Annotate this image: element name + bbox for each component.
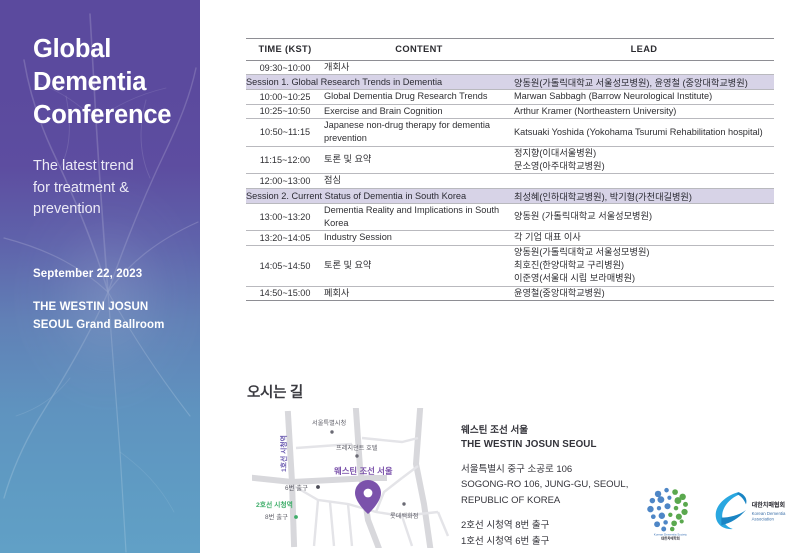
agenda-row: 09:30~10:00개회사	[246, 61, 774, 75]
page-title: Global Dementia Conference	[33, 33, 200, 132]
agenda-row: 10:00~10:25Global Dementia Drug Research…	[246, 90, 774, 104]
logo-strip: Korean Dementia Society 대한치매학회 대한치매협회 Ko…	[641, 478, 793, 544]
session-title: Session 2. Current Status of Dementia in…	[246, 188, 514, 203]
agenda-lead-line: 정지향(이대서울병원)	[514, 147, 774, 160]
event-venue: THE WESTIN JOSUN SEOUL Grand Ballroom	[33, 299, 200, 335]
map-label-city-hall: 서울특별시청	[312, 419, 346, 427]
agenda-row: 10:50~11:15Japanese non-drug therapy for…	[246, 119, 774, 147]
agenda-row-lead: 양동원(가톨릭대학교 서울성모병원)최호진(한양대학교 구리병원)이준영(서울대…	[514, 245, 774, 286]
agenda-row-content: Dementia Reality and Implications in Sou…	[324, 203, 514, 231]
agenda-row-lead: 윤영철(중앙대학교병원)	[514, 286, 774, 300]
agenda-row-time: 12:00~13:00	[246, 174, 324, 188]
agenda-row-time: 10:50~11:15	[246, 119, 324, 147]
column-header-lead: LEAD	[514, 39, 774, 61]
subway-access: 2호선 시청역 8번 출구 1호선 시청역 6번 출구	[461, 518, 661, 549]
agenda-row-time: 14:05~14:50	[246, 245, 324, 286]
agenda-row-content: 토론 및 요약	[324, 146, 514, 174]
agenda-lead-line: Katsuaki Yoshida (Yokohama Tsurumi Rehab…	[514, 126, 774, 139]
agenda-row-lead: 정지향(이대서울병원)문소영(아주대학교병원)	[514, 146, 774, 174]
agenda-lead-line: 양동원 (가톨릭대학교 서울성모병원)	[514, 210, 774, 223]
agenda-row-time: 09:30~10:00	[246, 61, 324, 75]
logo-caption-en-2: Association	[751, 516, 774, 521]
agenda-session-row: Session 1. Global Research Trends in Dem…	[246, 75, 774, 90]
agenda-row-content: 폐회사	[324, 286, 514, 300]
title-line-2: Dementia	[33, 68, 146, 96]
address-block: 웨스틴 조선 서울 THE WESTIN JOSUN SEOUL 서울특별시 중…	[461, 424, 661, 549]
venue-name-ko: 웨스틴 조선 서울	[461, 424, 661, 438]
sidebar-panel: Global Dementia Conference The latest tr…	[0, 0, 200, 553]
map-label-exit8: 8번 출구	[265, 512, 288, 521]
column-header-time: TIME (KST)	[246, 39, 324, 61]
table-header-row: TIME (KST) CONTENT LEAD	[246, 39, 774, 61]
title-line-1: Global	[33, 35, 111, 63]
agenda-row-lead	[514, 61, 774, 75]
agenda-lead-line: 문소영(아주대학교병원)	[514, 160, 774, 173]
agenda-row-content: Global Dementia Drug Research Trends	[324, 90, 514, 104]
subway-line-1: 2호선 시청역 8번 출구	[461, 518, 661, 533]
session-lead: 양동원(가톨릭대학교 서울성모병원), 윤영철 (중앙대학교병원)	[514, 75, 774, 90]
logo-caption-ko: 대한치매협회	[751, 501, 784, 509]
agenda-row-lead: Marwan Sabbagh (Barrow Neurological Inst…	[514, 90, 774, 104]
agenda-row-content: 점심	[324, 174, 514, 188]
agenda-row-time: 13:20~14:05	[246, 231, 324, 245]
agenda-row-content: Exercise and Brain Cognition	[324, 104, 514, 118]
address-line-3: REPUBLIC OF KOREA	[461, 493, 661, 508]
agenda-row: 14:50~15:00폐회사윤영철(중앙대학교병원)	[246, 286, 774, 300]
logo-caption-en-1: Korean Dementia	[751, 511, 785, 516]
agenda-row-content: Japanese non-drug therapy for dementia p…	[324, 119, 514, 147]
agenda-row-content: 개회사	[324, 61, 514, 75]
agenda-row: 11:15~12:00토론 및 요약정지향(이대서울병원)문소영(아주대학교병원…	[246, 146, 774, 174]
agenda-table-head: TIME (KST) CONTENT LEAD	[246, 39, 774, 61]
title-line-3: Conference	[33, 101, 171, 129]
agenda-row-content: 토론 및 요약	[324, 245, 514, 286]
session-title: Session 1. Global Research Trends in Dem…	[246, 75, 514, 90]
address-line-1: 서울특별시 중구 소공로 106	[461, 462, 661, 477]
agenda-row: 13:20~14:05Industry Session각 기업 대표 이사	[246, 231, 774, 245]
agenda-row: 14:05~14:50토론 및 요약양동원(가톨릭대학교 서울성모병원)최호진(…	[246, 245, 774, 286]
tagline-line-1: The latest trend	[33, 158, 134, 174]
agenda-session-row: Session 2. Current Status of Dementia in…	[246, 188, 774, 203]
map-label-lotte: 롯데백화점	[390, 512, 418, 520]
agenda-row-time: 13:00~13:20	[246, 203, 324, 231]
agenda-row: 12:00~13:00점심	[246, 174, 774, 188]
tagline: The latest trend for treatment & prevent…	[33, 156, 200, 220]
agenda-lead-line: Marwan Sabbagh (Barrow Neurological Inst…	[514, 90, 774, 103]
agenda-lead-line: 윤영철(중앙대학교병원)	[514, 287, 774, 300]
directions-heading: 오시는 길	[247, 381, 303, 402]
session-lead: 최성혜(인하대학교병원), 박기형(가천대길병원)	[514, 188, 774, 203]
agenda-row-lead: Katsuaki Yoshida (Yokohama Tsurumi Rehab…	[514, 119, 774, 147]
agenda-row-lead: 각 기업 대표 이사	[514, 231, 774, 245]
agenda-lead-line: 최호진(한양대학교 구리병원)	[514, 259, 774, 272]
agenda-row-time: 11:15~12:00	[246, 146, 324, 174]
agenda-row-lead: 양동원 (가톨릭대학교 서울성모병원)	[514, 203, 774, 231]
map-label-president-hotel: 프레지던트 호텔	[336, 444, 378, 452]
agenda-lead-line: Arthur Kramer (Northeastern University)	[514, 105, 774, 118]
location-map[interactable]: 서울특별시청 프레지던트 호텔 롯데백화점 6번 출구 8번 출구 2호선 시청…	[252, 408, 452, 548]
korean-dementia-society-logo: Korean Dementia Society 대한치매학회	[641, 480, 700, 542]
poster-page: Global Dementia Conference The latest tr…	[0, 0, 800, 553]
address-line-2: SOGONG-RO 106, JUNG-GU, SEOUL,	[461, 477, 661, 492]
venue-name-en: THE WESTIN JOSUN SEOUL	[461, 438, 661, 453]
agenda-row-time: 10:00~10:25	[246, 90, 324, 104]
agenda-lead-line: 양동원(가톨릭대학교 서울성모병원)	[514, 246, 774, 259]
agenda-lead-line: 각 기업 대표 이사	[514, 231, 774, 244]
logo-caption-ko: 대한치매학회	[661, 535, 680, 540]
tagline-line-3: prevention	[33, 201, 101, 217]
map-label-line2-station: 2호선 시청역	[256, 500, 293, 509]
postal-address: 서울특별시 중구 소공로 106 SOGONG-RO 106, JUNG-GU,…	[461, 462, 661, 508]
agenda-row-time: 10:25~10:50	[246, 104, 324, 118]
subway-line-2: 1호선 시청역 6번 출구	[461, 534, 661, 549]
map-label-line1-station: 1호선 시청역	[279, 435, 288, 472]
map-label-exit6: 6번 출구	[285, 483, 308, 492]
agenda-row: 10:25~10:50Exercise and Brain CognitionA…	[246, 104, 774, 118]
tagline-line-2: for treatment &	[33, 180, 129, 196]
agenda-row-lead: Arthur Kramer (Northeastern University)	[514, 104, 774, 118]
event-date: September 22, 2023	[33, 268, 200, 280]
agenda-row-lead	[514, 174, 774, 188]
agenda-row: 13:00~13:20Dementia Reality and Implicat…	[246, 203, 774, 231]
agenda-lead-line: 이준영(서울대 시립 보라매병원)	[514, 272, 774, 285]
agenda-row-time: 14:50~15:00	[246, 286, 324, 300]
korean-dementia-association-logo: 대한치매협회 Korean Dementia Association	[710, 485, 793, 537]
agenda-table: TIME (KST) CONTENT LEAD 09:30~10:00개회사Se…	[246, 38, 774, 301]
venue-line-1: THE WESTIN JOSUN	[33, 301, 148, 313]
agenda-row-content: Industry Session	[324, 231, 514, 245]
agenda-table-body: 09:30~10:00개회사Session 1. Global Research…	[246, 61, 774, 301]
venue-line-2: SEOUL Grand Ballroom	[33, 319, 165, 331]
column-header-content: CONTENT	[324, 39, 514, 61]
map-label-westin: 웨스틴 조선 서울	[334, 466, 393, 476]
